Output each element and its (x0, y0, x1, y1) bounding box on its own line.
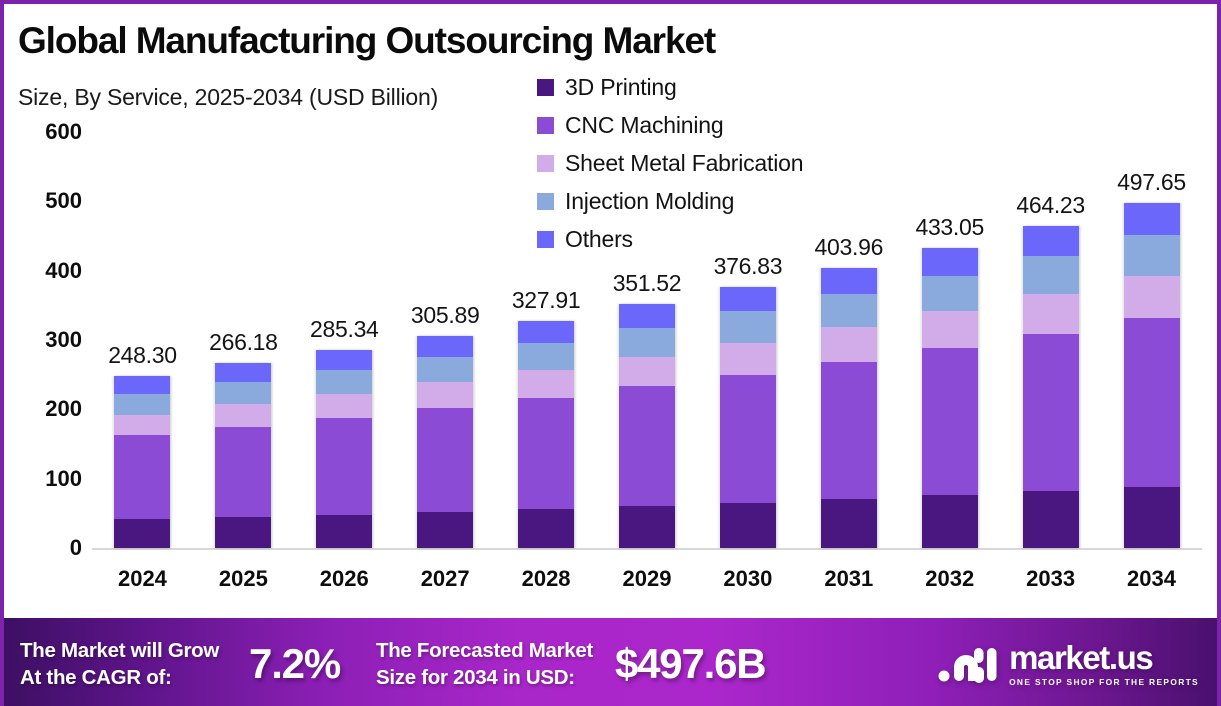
stacked-bar[interactable] (215, 363, 271, 548)
stacked-bar[interactable] (1124, 203, 1180, 548)
bar-segment[interactable] (821, 268, 877, 294)
x-axis-tick-label: 2024 (92, 566, 193, 592)
bar-segment[interactable] (922, 276, 978, 312)
y-axis-tick-label: 500 (4, 188, 82, 214)
stacked-bar[interactable] (417, 336, 473, 548)
forecast-size-label-line1: The Forecasted Market (376, 637, 593, 664)
bar-segment[interactable] (1124, 487, 1180, 548)
cagr-label: The Market will Grow At the CAGR of: (20, 637, 219, 692)
cagr-value: 7.2% (249, 640, 340, 688)
bar-segment[interactable] (1124, 203, 1180, 235)
logo-mark-icon (937, 644, 999, 684)
bar-segment[interactable] (1023, 256, 1079, 294)
bar-segment[interactable] (316, 418, 372, 515)
forecast-size-label-line2: Size for 2034 in USD: (376, 664, 593, 691)
bar-segment[interactable] (619, 357, 675, 387)
plot-area: 0100200300400500600 248.302024266.182025… (4, 4, 1221, 604)
bar-segment[interactable] (922, 348, 978, 495)
x-axis-tick-label: 2030 (697, 566, 798, 592)
bar-segment[interactable] (720, 503, 776, 548)
bar-segment[interactable] (417, 512, 473, 548)
bar-segment[interactable] (821, 294, 877, 327)
bar-segment[interactable] (215, 363, 271, 382)
bar-group[interactable]: 433.052032 (899, 4, 1000, 604)
forecast-size-label: The Forecasted Market Size for 2034 in U… (376, 637, 593, 692)
cagr-label-line1: The Market will Grow (20, 637, 219, 664)
market-us-logo[interactable]: market.us ONE STOP SHOP FOR THE REPORTS (937, 641, 1199, 687)
bar-segment[interactable] (417, 336, 473, 357)
bar-segment[interactable] (821, 362, 877, 500)
bar-segment[interactable] (215, 427, 271, 517)
logo-name: market.us (1009, 641, 1199, 674)
bar-segment[interactable] (1023, 294, 1079, 333)
x-axis-tick-label: 2027 (395, 566, 496, 592)
bar-segment[interactable] (518, 321, 574, 343)
stacked-bar[interactable] (922, 248, 978, 548)
stacked-bar[interactable] (619, 304, 675, 548)
bar-segment[interactable] (619, 506, 675, 548)
bar-total-label: 497.65 (1089, 169, 1215, 196)
bar-group[interactable]: 351.522029 (597, 4, 698, 604)
bar-segment[interactable] (215, 404, 271, 426)
x-axis-tick-label: 2026 (294, 566, 395, 592)
bar-segment[interactable] (619, 328, 675, 357)
bar-segment[interactable] (518, 370, 574, 398)
bar-segment[interactable] (922, 311, 978, 348)
bar-segment[interactable] (1023, 334, 1079, 492)
bar-segment[interactable] (114, 394, 170, 415)
bar-segment[interactable] (518, 509, 574, 548)
bar-segment[interactable] (922, 248, 978, 276)
bar-group[interactable]: 497.652034 (1101, 4, 1202, 604)
bar-segment[interactable] (114, 415, 170, 436)
y-axis-tick-label: 300 (4, 327, 82, 353)
x-axis-tick-label: 2029 (597, 566, 698, 592)
x-axis-tick-label: 2034 (1101, 566, 1202, 592)
stacked-bar[interactable] (720, 287, 776, 548)
bar-segment[interactable] (518, 343, 574, 370)
stacked-bar[interactable] (1023, 226, 1079, 548)
y-axis-tick-label: 100 (4, 466, 82, 492)
logo-tagline: ONE STOP SHOP FOR THE REPORTS (1009, 677, 1199, 687)
bar-segment[interactable] (1124, 235, 1180, 276)
cagr-label-line2: At the CAGR of: (20, 664, 219, 691)
y-axis-tick-label: 600 (4, 119, 82, 145)
bar-segment[interactable] (720, 343, 776, 375)
y-axis-tick-label: 400 (4, 258, 82, 284)
bar-segment[interactable] (316, 515, 372, 548)
bar-segment[interactable] (518, 398, 574, 510)
bar-segment[interactable] (215, 382, 271, 404)
y-axis-tick-label: 0 (4, 535, 82, 561)
infographic-page: Global Manufacturing Outsourcing Market … (0, 0, 1221, 706)
bar-segment[interactable] (720, 287, 776, 312)
bar-segment[interactable] (1124, 276, 1180, 318)
bar-group[interactable]: 266.182025 (193, 4, 294, 604)
bar-group[interactable]: 285.342026 (294, 4, 395, 604)
bar-segment[interactable] (114, 519, 170, 548)
bar-segment[interactable] (619, 386, 675, 506)
x-axis-tick-label: 2028 (496, 566, 597, 592)
forecast-size-value: $497.6B (615, 640, 765, 688)
bar-segment[interactable] (417, 357, 473, 382)
bar-group[interactable]: 305.892027 (395, 4, 496, 604)
bar-group[interactable]: 248.302024 (92, 4, 193, 604)
x-axis-tick-label: 2033 (1000, 566, 1101, 592)
bar-segment[interactable] (821, 499, 877, 548)
stacked-bar[interactable] (114, 376, 170, 548)
x-axis-tick-label: 2025 (193, 566, 294, 592)
x-axis-tick-label: 2031 (798, 566, 899, 592)
bar-segment[interactable] (720, 311, 776, 342)
stacked-bar[interactable] (316, 350, 372, 548)
bar-segment[interactable] (316, 394, 372, 418)
x-axis-tick-label: 2032 (899, 566, 1000, 592)
bar-container: 248.302024266.182025285.342026305.892027… (92, 4, 1202, 604)
bar-group[interactable]: 403.962031 (798, 4, 899, 604)
logo-text: market.us ONE STOP SHOP FOR THE REPORTS (1009, 641, 1199, 687)
bar-segment[interactable] (215, 517, 271, 548)
bar-segment[interactable] (922, 495, 978, 548)
bar-segment[interactable] (417, 408, 473, 512)
bar-segment[interactable] (114, 376, 170, 394)
bar-total-label: 464.23 (988, 192, 1114, 219)
stacked-bar[interactable] (821, 268, 877, 548)
bar-group[interactable]: 464.232033 (1000, 4, 1101, 604)
bar-segment[interactable] (619, 304, 675, 327)
bar-segment[interactable] (720, 375, 776, 503)
bar-segment[interactable] (316, 350, 372, 370)
bar-segment[interactable] (1023, 226, 1079, 256)
bar-segment[interactable] (417, 382, 473, 408)
bar-segment[interactable] (1124, 318, 1180, 487)
bottom-banner: The Market will Grow At the CAGR of: 7.2… (4, 618, 1221, 706)
bar-segment[interactable] (1023, 491, 1079, 548)
bar-segment[interactable] (821, 327, 877, 361)
y-axis-tick-label: 200 (4, 396, 82, 422)
bar-segment[interactable] (316, 370, 372, 394)
bar-segment[interactable] (114, 435, 170, 519)
bar-group[interactable]: 327.912028 (496, 4, 597, 604)
bar-group[interactable]: 376.832030 (697, 4, 798, 604)
stacked-bar[interactable] (518, 321, 574, 548)
